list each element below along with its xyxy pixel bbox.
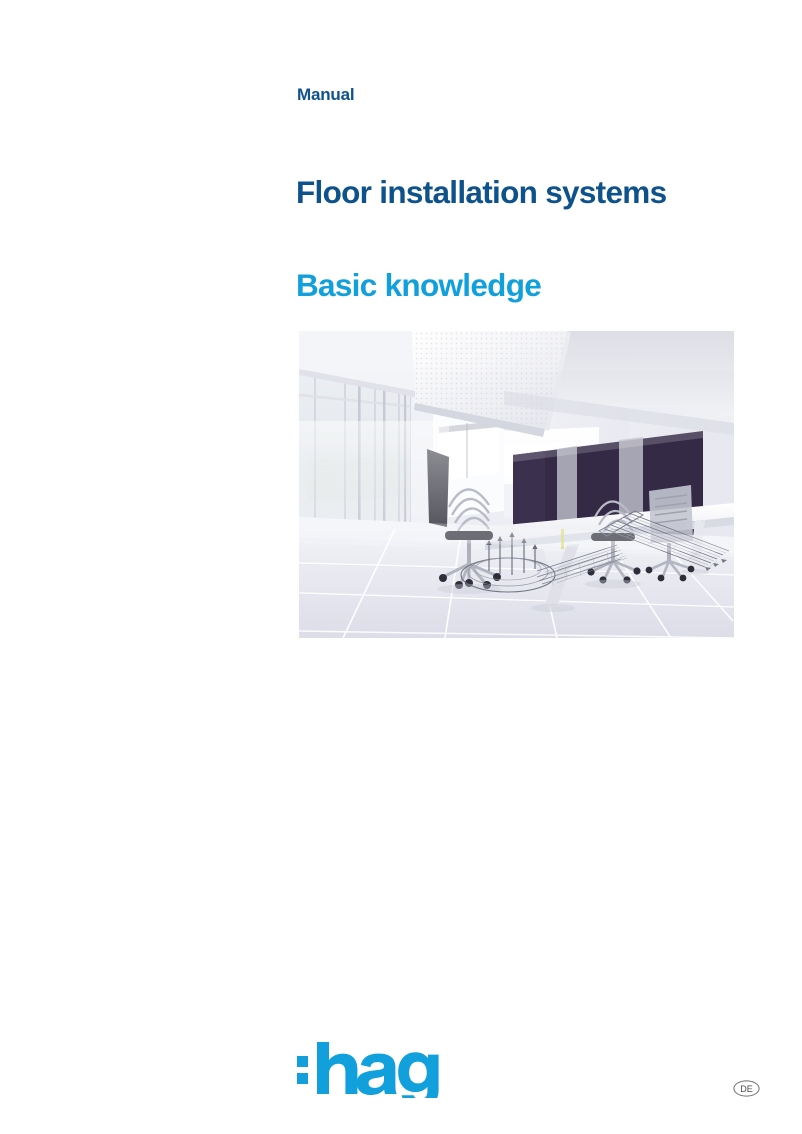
document-type-label: Manual xyxy=(297,85,354,105)
page-title: Floor installation systems xyxy=(296,174,666,211)
hager-logo-icon xyxy=(295,1042,455,1098)
page-subtitle: Basic knowledge xyxy=(296,267,541,304)
language-badge: DE xyxy=(733,1080,760,1097)
cover-image xyxy=(299,331,734,638)
office-interior-illustration xyxy=(299,331,734,638)
language-code: DE xyxy=(740,1084,753,1094)
hager-logo xyxy=(295,1042,455,1098)
cover-page: Manual Floor installation systems Basic … xyxy=(0,0,802,1134)
